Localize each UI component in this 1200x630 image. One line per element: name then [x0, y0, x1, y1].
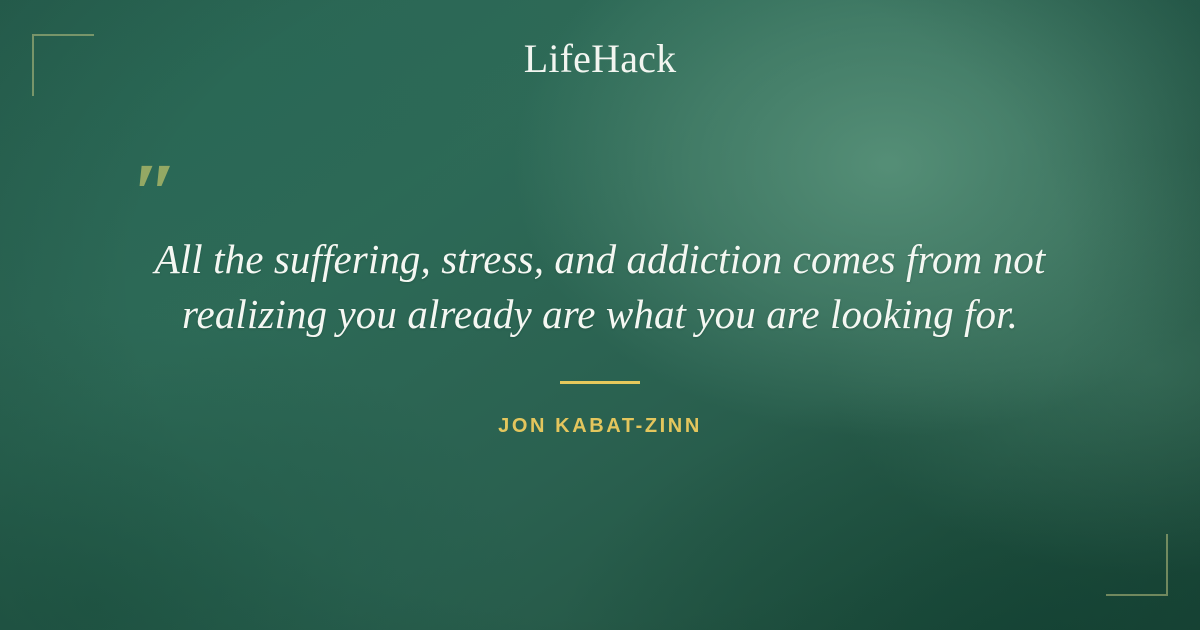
- quotation-mark-icon: ″: [131, 150, 179, 236]
- corner-bracket-bottom-right-icon: [1106, 534, 1168, 596]
- lifehack-logo: LifeHack: [0, 39, 1200, 79]
- quote-card: LifeHack ″ All the suffering, stress, an…: [0, 0, 1200, 630]
- quote-line-2: realizing you already are what you are l…: [100, 287, 1100, 342]
- divider-rule: [560, 381, 640, 384]
- quote-block: All the suffering, stress, and addiction…: [100, 232, 1100, 341]
- quote-line-1: All the suffering, stress, and addiction…: [100, 232, 1100, 287]
- author-attribution: JON KABAT-ZINN: [0, 414, 1200, 438]
